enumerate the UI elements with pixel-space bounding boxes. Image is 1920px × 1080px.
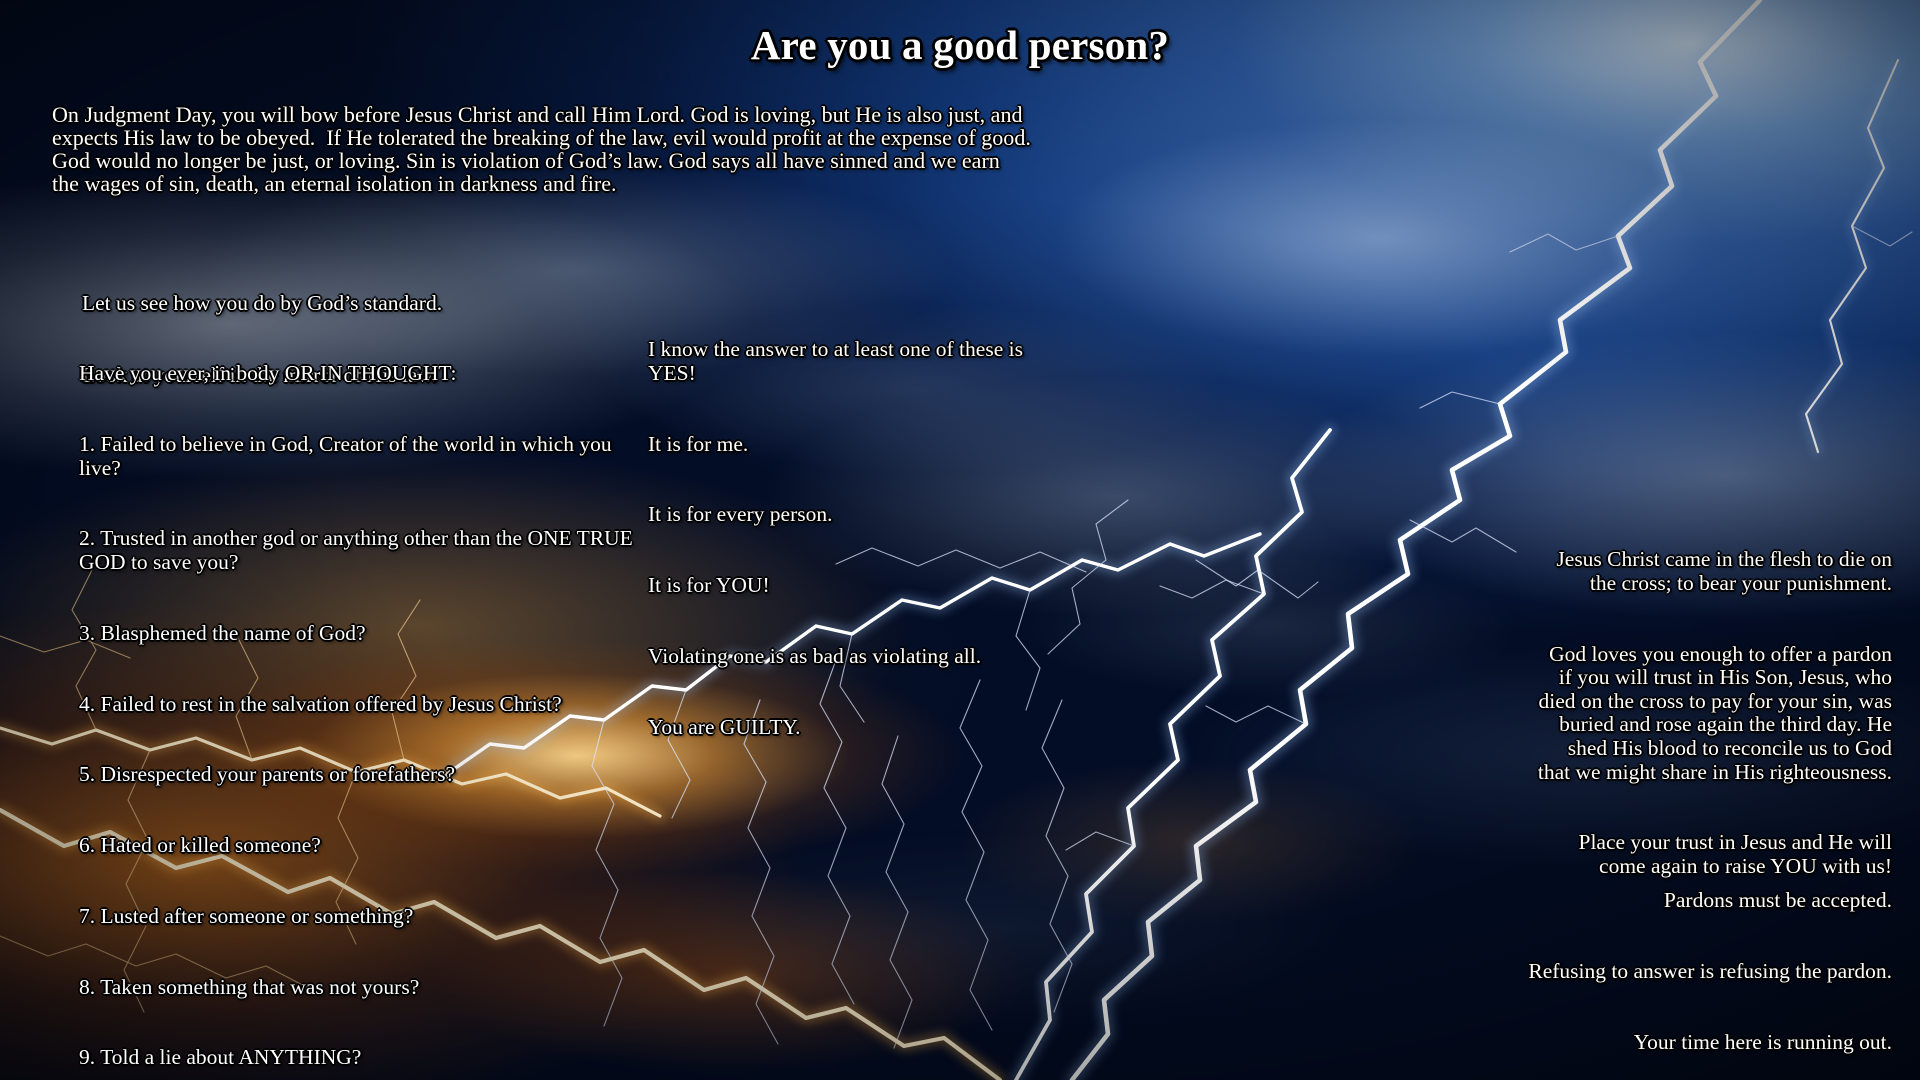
appeal-paragraph-2: Refusing to answer is refusing the pardo… [1492,960,1892,984]
list-item: 3. Blasphemed the name of God? [79,622,644,646]
gospel-paragraph-1: Jesus Christ came in the flesh to die on… [1532,548,1892,595]
ten-commandments-checklist: Have you ever, in body OR IN THOUGHT: 1.… [79,315,644,1080]
list-item: 2. Trusted in another god or anything ot… [79,527,644,574]
law-heading: Have you ever, in body OR IN THOUGHT: [79,362,644,386]
appeal-block: Pardons must be accepted. Refusing to an… [1492,842,1892,1080]
list-item: 1. Failed to believe in God, Creator of … [79,433,644,480]
intro-paragraph: On Judgment Day, you will bow before Jes… [52,103,1032,195]
verdict-line: Violating one is as bad as violating all… [648,645,1068,669]
appeal-paragraph-3: Your time here is running out. [1492,1031,1892,1055]
list-item: 9. Told a lie about ANYTHING? [79,1046,644,1070]
list-item: 8. Taken something that was not yours? [79,976,644,1000]
verdict-block: I know the answer to at least one of the… [648,291,1068,786]
list-item: 7. Lusted after someone or something? [79,905,644,929]
appeal-paragraph-1: Pardons must be accepted. [1492,889,1892,913]
verdict-line: It is for YOU! [648,574,1068,598]
gospel-paragraph-2: God loves you enough to offer a pardon i… [1532,643,1892,785]
mirror-line-1: Let us see how you do by God’s standard. [82,291,552,315]
verdict-line: It is for me. [648,433,1068,457]
poster-canvas: Are you a good person? On Judgment Day, … [0,0,1920,1080]
verdict-line: I know the answer to at least one of the… [648,338,1068,385]
list-item: 4. Failed to rest in the salvation offer… [79,693,644,717]
list-item: 6. Hated or killed someone? [79,834,644,858]
verdict-line: You are GUILTY. [648,716,1068,740]
verdict-line: It is for every person. [648,503,1068,527]
list-item: 5. Disrespected your parents or forefath… [79,763,644,787]
page-title: Are you a good person? [0,21,1920,69]
